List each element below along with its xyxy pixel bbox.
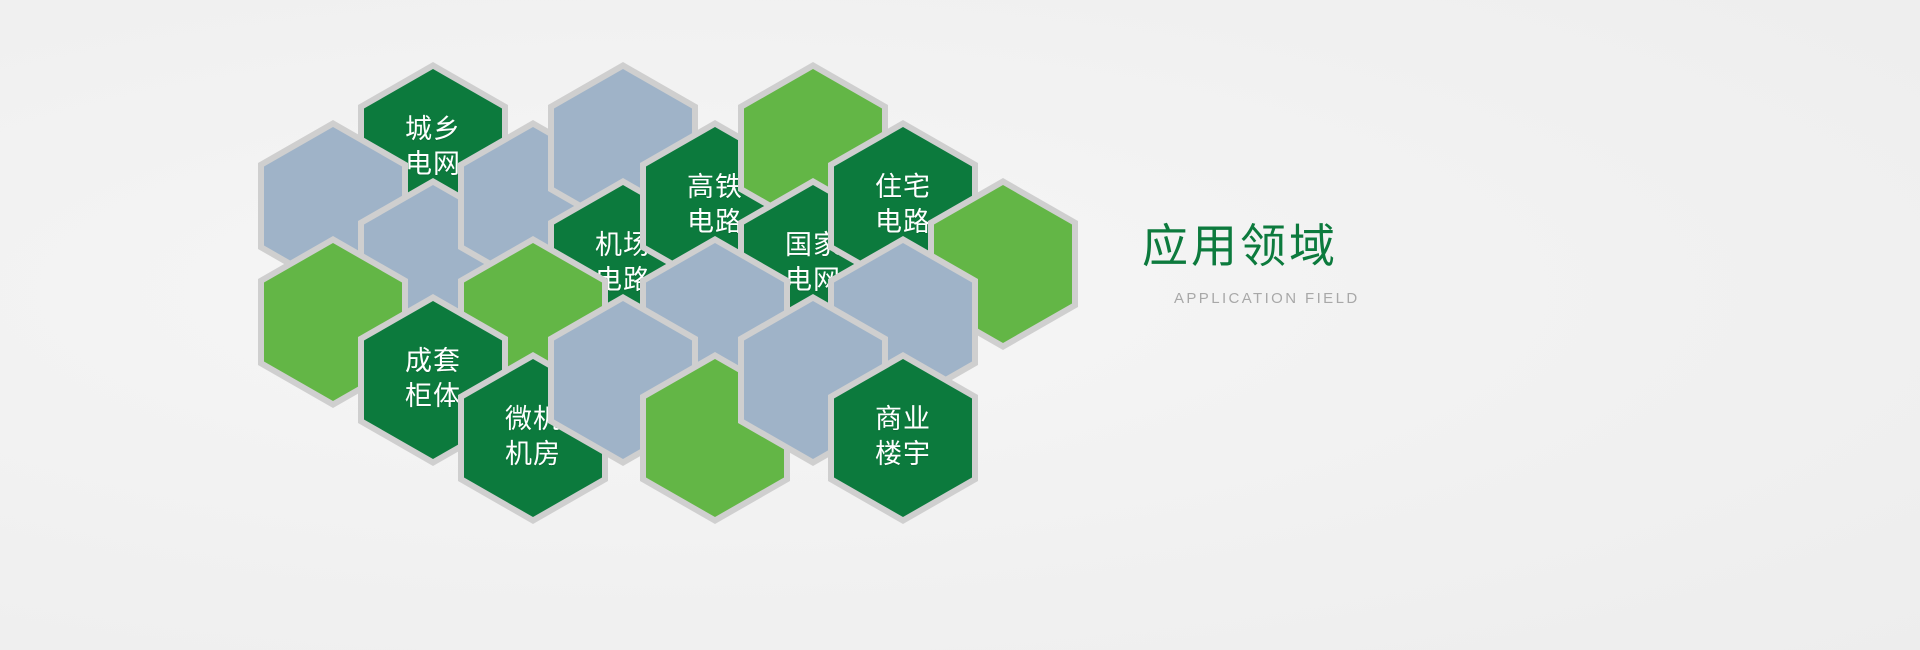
heading-block: 应用领域 APPLICATION FIELD	[1142, 218, 1562, 307]
hex-label-text: 成套 柜体	[405, 345, 461, 414]
application-field-banner: 城乡 电网机场 电路高铁 电路国家 电网住宅 电路成套 柜体微机 机房商业 楼宇…	[0, 0, 1920, 650]
hexagon-honeycomb: 城乡 电网机场 电路高铁 电路国家 电网住宅 电路成套 柜体微机 机房商业 楼宇	[0, 0, 1200, 650]
page-subtitle: APPLICATION FIELD	[1174, 290, 1562, 307]
hex-label-text: 城乡 电网	[405, 113, 461, 182]
hex-label-text: 商业 楼宇	[875, 403, 931, 472]
page-title: 应用领域	[1142, 218, 1562, 276]
hex-label-text: 住宅 电路	[875, 171, 931, 240]
hex-fill-label: 商业 楼宇	[834, 359, 972, 517]
hex-label-text: 高铁 电路	[687, 171, 743, 240]
